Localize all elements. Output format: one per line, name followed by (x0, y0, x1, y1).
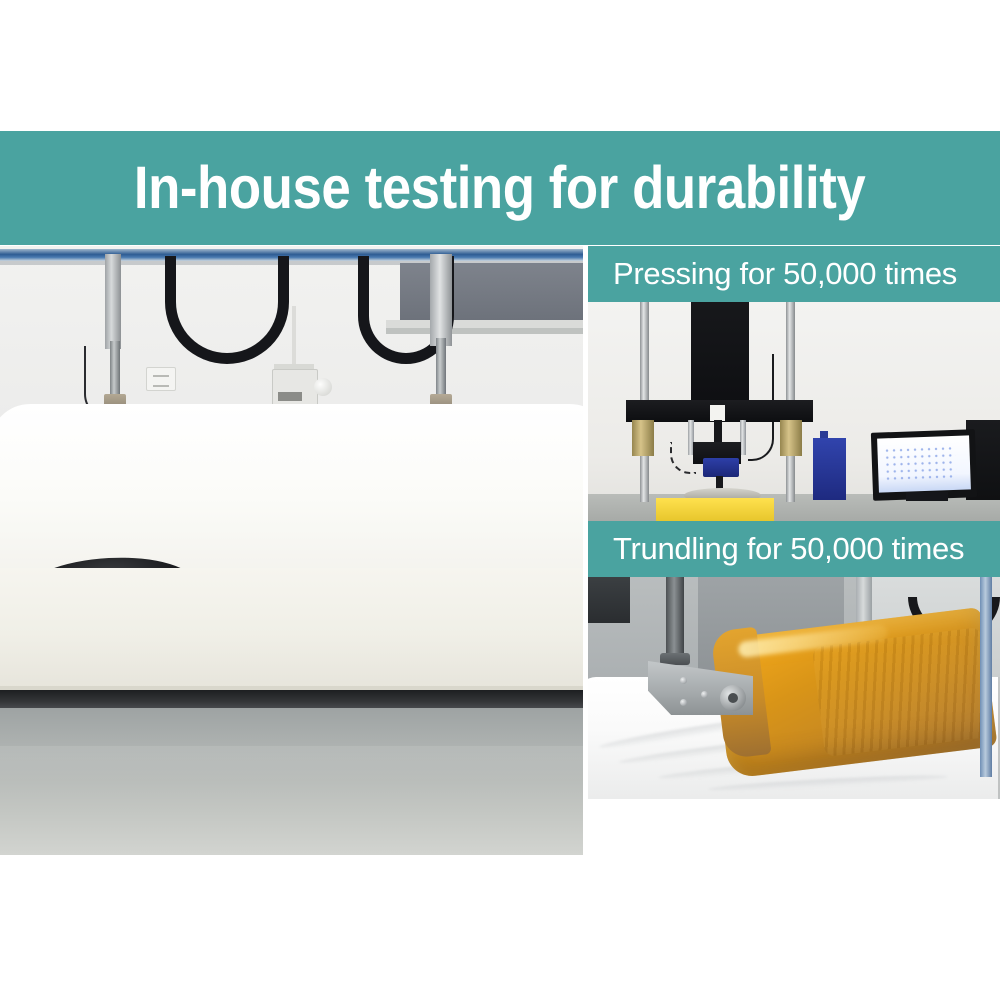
header-banner: In-house testing for durability (0, 131, 1000, 245)
control-box-slot (278, 392, 302, 401)
press-monitor-stand (906, 492, 948, 501)
blue-gantry-rail (0, 249, 583, 261)
press-yellow-platform (656, 498, 774, 521)
press-brass-bushing-right (780, 420, 802, 456)
wall-control-box (272, 369, 318, 409)
bracket-bolt (680, 677, 687, 684)
mattress-side-face (0, 568, 583, 688)
mattress-top-surface (0, 404, 583, 574)
photo-grid: Pressing for 50,000 times (0, 246, 1000, 855)
wall-conduit (292, 306, 296, 368)
press-motor-tower (691, 302, 749, 407)
actuator-housing-left (105, 254, 121, 349)
control-box-knob (314, 378, 332, 396)
blue-controller-box (813, 438, 846, 500)
page-title: In-house testing for durability (134, 158, 865, 218)
test-rig-base (0, 690, 583, 709)
bracket-bolt (701, 691, 708, 698)
indentation-durability-test-photo (0, 246, 583, 855)
press-monitor-chart (883, 445, 956, 481)
trundle-arm-column (666, 577, 684, 659)
pressing-test-machine-photo (588, 302, 1000, 521)
trundle-machine-dark-part (588, 577, 630, 623)
bracket-bolt (680, 699, 687, 706)
trundling-label-bar: Trundling for 50,000 times (588, 521, 1000, 577)
trundle-right-post (980, 577, 992, 777)
trundling-test-roller-photo (588, 577, 1000, 799)
floor-highlight (0, 746, 583, 782)
press-blue-actuator (703, 458, 739, 477)
press-brass-bushing-left (632, 420, 654, 456)
rail-shadow (0, 261, 583, 265)
roller-texture (812, 627, 994, 757)
pressing-label-text: Pressing for 50,000 times (613, 256, 957, 292)
trundling-label-text: Trundling for 50,000 times (613, 531, 964, 567)
press-stem (714, 420, 722, 442)
wall-socket (146, 367, 176, 391)
roller-axle-hub (720, 685, 746, 711)
actuator-housing-right (430, 254, 452, 346)
pressing-label-bar: Pressing for 50,000 times (588, 246, 1000, 302)
product-feature-graphic: In-house testing for durability (0, 0, 1000, 1000)
press-load-cell (710, 405, 725, 421)
trundle-arm-foot (660, 653, 690, 665)
right-photo-column: Pressing for 50,000 times (588, 246, 1000, 855)
